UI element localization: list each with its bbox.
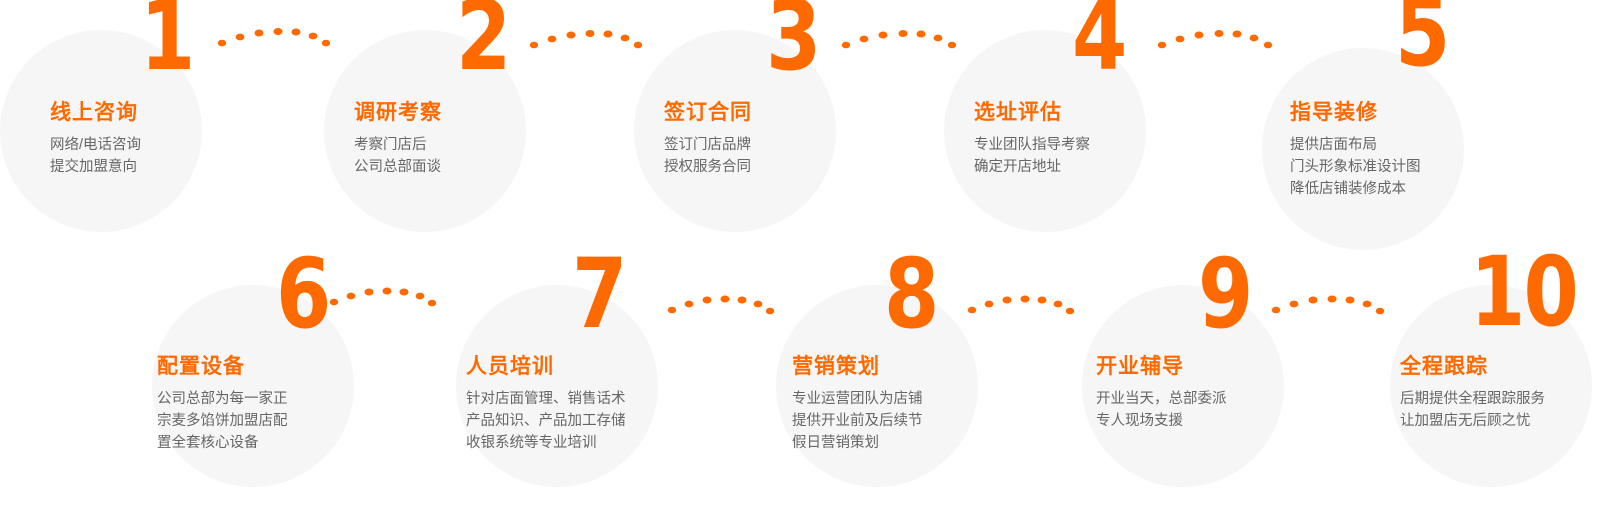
arc-dot [322,40,330,47]
connector-arc-4 [1158,24,1270,54]
step-title-2: 调研考察 [354,96,442,126]
arc-dot [274,28,283,35]
arc-dot [1021,296,1030,303]
arc-dot [1328,296,1337,303]
arc-dot [530,42,538,49]
arc-dot [383,288,392,295]
step-desc-line: 专业团队指导考察 [974,134,1090,156]
arc-dot [917,31,926,38]
step-number-8: 8 [884,250,937,338]
arc-dot [548,36,557,43]
step-desc-9: 开业当天，总部委派 专人现场支援 [1096,388,1227,432]
arc-dot [1066,308,1074,315]
step-desc-line: 产品知识、产品加工存储 [466,410,626,432]
arc-dot [1272,307,1280,314]
process-flow-infographic: 1 线上咨询 网络/电话咨询 提交加盟意向 2 调研考察 考察门店后 公司总部面… [0,0,1606,508]
step-bubble-9 [1082,285,1284,487]
arc-dot [428,300,436,307]
connector-arc-8 [968,290,1073,320]
arc-dot [1309,297,1318,304]
step-desc-line: 提供开业前及后续节 [792,410,923,432]
arc-dot [1054,301,1063,308]
step-desc-line: 针对店面管理、销售话术 [466,388,626,410]
step-number-9: 9 [1198,250,1251,338]
arc-dot [948,42,956,49]
step-desc-line: 公司总部为每一家正 [157,388,288,410]
step-bubble-7 [456,285,658,487]
connector-arc-7 [668,290,773,320]
step-desc-3: 签订门店品牌 授权服务合同 [664,134,751,178]
step-desc-line: 公司总部面谈 [354,156,441,178]
step-desc-line: 授权服务合同 [664,156,751,178]
step-desc-line: 专人现场支援 [1096,410,1227,432]
arc-dot [1003,297,1012,304]
arc-dot [685,301,694,308]
step-title-6: 配置设备 [157,350,245,380]
arc-dot [1363,301,1372,308]
step-desc-line: 置全套核心设备 [157,432,288,454]
step-title-5: 指导装修 [1290,96,1378,126]
step-number-4: 4 [1072,0,1125,80]
arc-dot [1376,308,1384,315]
step-title-1: 线上咨询 [50,96,138,126]
step-title-3: 签订合同 [664,96,752,126]
step-number-3: 3 [766,0,819,80]
step-number-10: 10 [1470,248,1577,336]
arc-dot [567,32,576,39]
step-desc-4: 专业团队指导考察 确定开店地址 [974,134,1090,178]
arc-dot [586,30,595,37]
step-desc-2: 考察门店后 公司总部面谈 [354,134,441,178]
arc-dot [842,42,850,49]
step-desc-line: 开业当天，总部委派 [1096,388,1227,410]
arc-dot [860,36,869,43]
arc-dot [255,30,264,37]
step-number-7: 7 [572,250,625,338]
step-desc-7: 针对店面管理、销售话术 产品知识、产品加工存储 收银系统等专业培训 [466,388,626,454]
step-title-9: 开业辅导 [1096,350,1184,380]
arc-dot [766,308,774,315]
step-desc-line: 专业运营团队为店铺 [792,388,923,410]
step-desc-line: 考察门店后 [354,134,441,156]
arc-dot [365,289,374,296]
arc-dot [1038,297,1047,304]
arc-dot [634,42,642,49]
arc-dot [400,289,409,296]
arc-dot [1290,301,1299,308]
arc-dot [754,301,763,308]
arc-dot [604,31,613,38]
step-desc-5: 提供店面布局 门头形象标准设计图 降低店铺装修成本 [1290,134,1421,200]
arc-dot [309,33,318,40]
step-desc-6: 公司总部为每一家正 宗麦多馅饼加盟店配 置全套核心设备 [157,388,288,454]
arc-dot [292,29,301,36]
step-desc-line: 签订门店品牌 [664,134,751,156]
arc-dot [1233,31,1242,38]
arc-dot [1195,32,1204,39]
arc-dot [1264,42,1272,49]
step-desc-line: 宗麦多馅饼加盟店配 [157,410,288,432]
arc-dot [330,299,338,306]
connector-arc-2 [530,24,640,54]
step-number-1: 1 [140,0,193,80]
arc-dot [236,34,245,41]
step-desc-10: 后期提供全程跟踪服务 让加盟店无后顾之忧 [1400,388,1545,432]
connector-arc-6 [330,282,435,312]
step-desc-line: 后期提供全程跟踪服务 [1400,388,1545,410]
arc-dot [1176,36,1185,43]
arc-dot [721,296,730,303]
step-desc-line: 降低店铺装修成本 [1290,178,1421,200]
step-number-6: 6 [276,250,329,338]
arc-dot [879,32,888,39]
step-title-7: 人员培训 [466,350,554,380]
arc-dot [934,35,943,42]
arc-dot [218,40,226,47]
arc-dot [738,297,747,304]
arc-dot [668,307,676,314]
arc-dot [985,301,994,308]
arc-dot [703,297,712,304]
connector-arc-9 [1272,290,1382,320]
arc-dot [347,293,356,300]
arc-dot [416,293,425,300]
step-bubble-8 [776,285,978,487]
step-desc-1: 网络/电话咨询 提交加盟意向 [50,134,141,178]
arc-dot [968,307,976,314]
step-desc-line: 网络/电话咨询 [50,134,141,156]
connector-arc-1 [218,22,328,52]
step-title-10: 全程跟踪 [1400,350,1488,380]
step-title-8: 营销策划 [792,350,880,380]
arc-dot [1346,297,1355,304]
step-desc-line: 提交加盟意向 [50,156,141,178]
arc-dot [621,35,630,42]
step-desc-line: 收银系统等专业培训 [466,432,626,454]
step-desc-line: 让加盟店无后顾之忧 [1400,410,1545,432]
step-title-4: 选址评估 [974,96,1062,126]
step-desc-line: 确定开店地址 [974,156,1090,178]
arc-dot [1215,30,1224,37]
arc-dot [1250,35,1259,42]
step-number-5: 5 [1395,0,1448,76]
arc-dot [1158,42,1166,49]
connector-arc-3 [842,24,954,54]
step-desc-line: 假日营销策划 [792,432,923,454]
step-desc-line: 提供店面布局 [1290,134,1421,156]
step-desc-8: 专业运营团队为店铺 提供开业前及后续节 假日营销策划 [792,388,923,454]
step-desc-line: 门头形象标准设计图 [1290,156,1421,178]
arc-dot [899,30,908,37]
step-number-2: 2 [456,0,509,80]
